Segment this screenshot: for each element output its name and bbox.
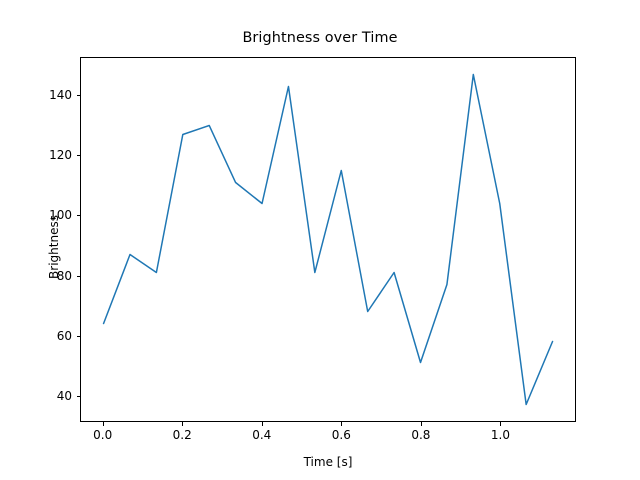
matplotlib-figure: Brightness over Time 0.00.20.40.60.81.0 … — [0, 0, 640, 480]
plot-axes-area — [80, 57, 576, 422]
x-tick-label: 0.0 — [93, 428, 112, 442]
line-chart-svg — [81, 58, 575, 421]
page-title: Brightness over Time — [0, 30, 640, 46]
x-tick-mark — [262, 422, 263, 426]
y-tick-mark — [77, 396, 81, 397]
y-tick-mark — [77, 95, 81, 96]
x-tick-label: 0.2 — [173, 428, 192, 442]
x-axis-label: Time [s] — [80, 455, 576, 469]
x-tick-label: 1.0 — [491, 428, 510, 442]
x-tick-mark — [421, 422, 422, 426]
x-tick-label: 0.8 — [411, 428, 430, 442]
y-tick-label: 60 — [36, 329, 72, 343]
y-tick-mark — [77, 336, 81, 337]
y-tick-label: 140 — [36, 88, 72, 102]
y-axis-label: Brightness — [47, 187, 61, 307]
y-tick-mark — [77, 155, 81, 156]
y-tick-label: 40 — [36, 389, 72, 403]
y-tick-mark — [77, 215, 81, 216]
x-tick-mark — [500, 422, 501, 426]
x-tick-label: 0.4 — [252, 428, 271, 442]
x-tick-label: 0.6 — [332, 428, 351, 442]
y-tick-label: 120 — [36, 148, 72, 162]
x-tick-mark — [341, 422, 342, 426]
y-tick-mark — [77, 276, 81, 277]
data-series-line — [104, 74, 553, 404]
x-tick-mark — [182, 422, 183, 426]
x-tick-mark — [103, 422, 104, 426]
